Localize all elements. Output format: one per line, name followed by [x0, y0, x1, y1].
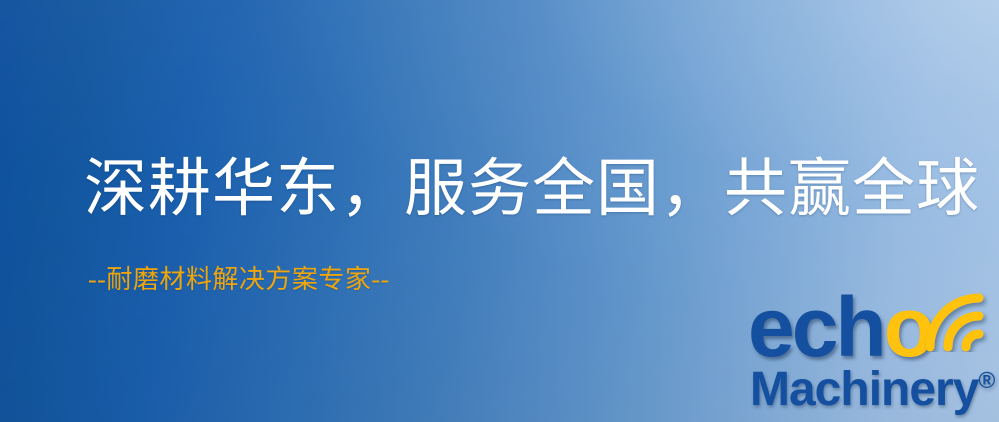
- echo-wave-arcs-icon: [922, 290, 994, 352]
- logo-subbrand-text: Machinery: [750, 363, 978, 416]
- promotional-banner: 深耕华东，服务全国，共赢全球 --耐磨材料解决方案专家-- echo Machi…: [0, 0, 999, 422]
- logo-subbrand: Machinery®: [750, 354, 995, 416]
- banner-headline: 深耕华东，服务全国，共赢全球: [84, 152, 980, 226]
- registered-trademark-icon: ®: [978, 367, 995, 393]
- banner-subtitle: --耐磨材料解决方案专家--: [88, 264, 390, 296]
- company-logo[interactable]: echo Machinery®: [744, 292, 999, 422]
